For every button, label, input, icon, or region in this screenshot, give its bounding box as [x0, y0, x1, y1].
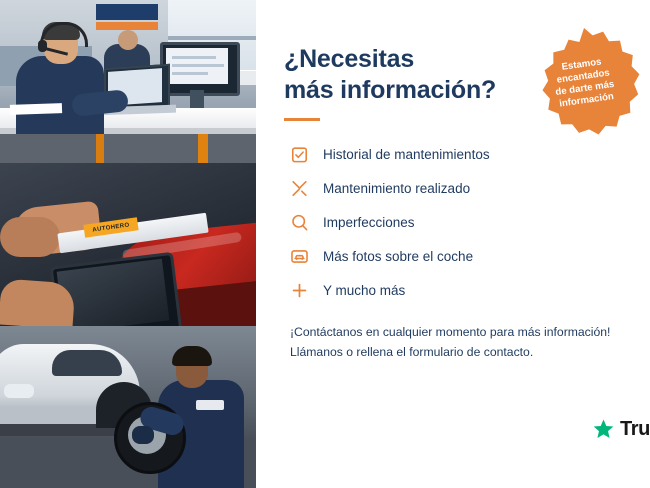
technician-forearm [0, 217, 60, 257]
tablet-screen [57, 259, 170, 326]
desk-papers [10, 103, 62, 115]
feature-label: Imperfecciones [323, 216, 415, 230]
headline-line-1: ¿Necesitas [284, 45, 414, 73]
trustpilot-widget[interactable]: Trustpilot Excelente [592, 404, 650, 454]
feature-label: Más fotos sobre el coche [323, 250, 473, 264]
title-underline [284, 118, 320, 121]
window-frame [168, 36, 256, 40]
trustpilot-star-icon [592, 418, 615, 440]
photo-service-advisor-at-desk [0, 0, 256, 163]
wall-banner-accent [96, 22, 158, 30]
mechanic-hair [172, 346, 212, 366]
photo-mechanic-changing-wheel [0, 326, 256, 488]
tools-icon [290, 179, 309, 198]
desk-leg [96, 134, 104, 163]
status-badge: Estamos encantados de darte más informac… [528, 26, 640, 138]
screen-line [172, 64, 224, 67]
photo-technician-inspecting-red-car: AUTOHERO [0, 163, 256, 326]
screen-line [172, 72, 208, 75]
promo-card: AUTOHERO ¿Necesitas má [0, 0, 650, 488]
uniform-badge [196, 400, 224, 410]
screen-line [172, 56, 216, 59]
office-floor [0, 134, 256, 163]
headline-line-2: más información? [284, 76, 496, 104]
background-colleague-head [118, 30, 138, 50]
badge-text: Estamos encantados de darte más informac… [551, 55, 616, 111]
car-window [52, 350, 122, 376]
feature-label: Y mucho más [323, 284, 405, 298]
trustpilot-brand: Trustpilot [620, 418, 650, 441]
feature-label: Mantenimiento realizado [323, 182, 470, 196]
list-item: Historial de mantenimientos [290, 145, 624, 164]
feature-list: Historial de mantenimientos Mantenimient… [290, 145, 624, 300]
contact-text: ¡Contáctanos en cualquier momento para m… [290, 322, 620, 362]
feature-label: Historial de mantenimientos [323, 148, 490, 162]
monitor-stand [190, 90, 204, 108]
photo-car-icon [290, 247, 309, 266]
magnifier-icon [290, 213, 309, 232]
page-title: ¿Necesitas más información? [284, 44, 544, 106]
list-item: Más fotos sobre el coche [290, 247, 624, 266]
car-headlight [4, 384, 34, 398]
contact-line-2: Llámanos o rellena el formulario de cont… [290, 342, 620, 362]
list-item: Mantenimiento realizado [290, 179, 624, 198]
plus-icon [290, 281, 309, 300]
list-item: Y mucho más [290, 281, 624, 300]
desk-leg [198, 134, 208, 163]
badge-content: Estamos encantados de darte más informac… [521, 19, 647, 145]
list-item: Imperfecciones [290, 213, 624, 232]
contact-line-1: ¡Contáctanos en cualquier momento para m… [290, 322, 620, 342]
mechanic-glove [132, 426, 154, 444]
trustpilot-logo: Trustpilot [592, 418, 650, 441]
content-panel: ¿Necesitas más información? Historial de… [256, 0, 650, 488]
wall-banner [96, 4, 158, 20]
photo-column: AUTOHERO [0, 0, 256, 488]
clipboard-check-icon [290, 145, 309, 164]
